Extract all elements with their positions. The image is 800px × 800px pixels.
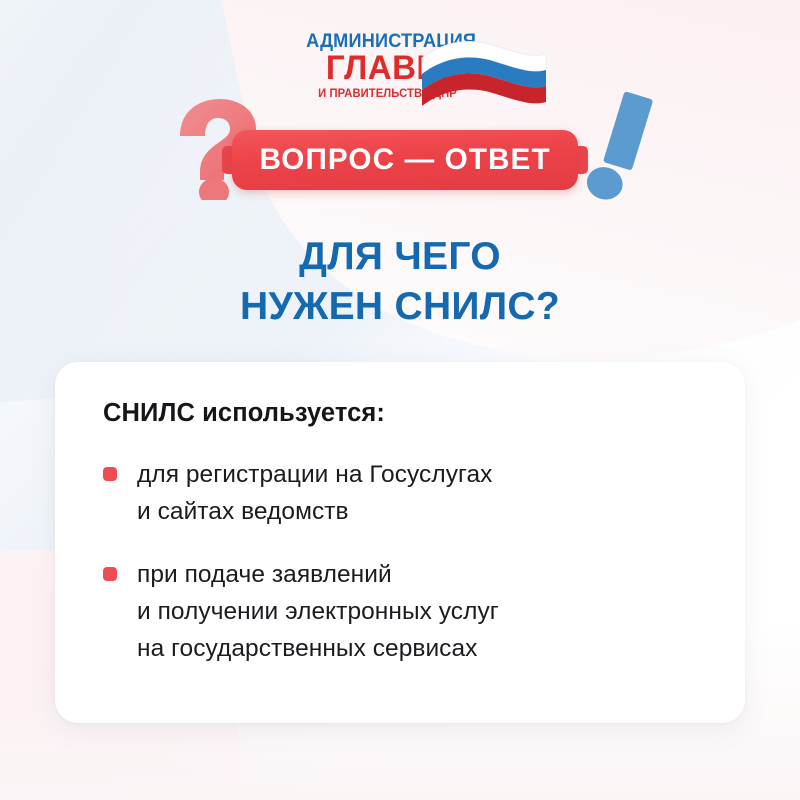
bullet-list: для регистрации на Госуслугах и сайтах в… xyxy=(103,456,701,667)
bullet-square-icon xyxy=(103,567,117,581)
list-item-line: на государственных сервисах xyxy=(137,630,499,667)
list-item-text: при подаче заявлений и получении электро… xyxy=(137,556,499,667)
exclamation-mark-icon xyxy=(586,92,666,209)
banner-label: ВОПРОС — ОТВЕТ xyxy=(259,143,550,177)
answer-card: СНИЛС используется: для регистрации на Г… xyxy=(55,362,745,723)
question-answer-banner: ВОПРОС — ОТВЕТ xyxy=(232,130,578,190)
administration-logo: АДМИНИСТРАЦИЯ ГЛАВЫ И ПРАВИТЕЛЬСТВА ДНР xyxy=(300,30,550,116)
list-item-line: при подаче заявлений xyxy=(137,556,499,593)
page-title-line-2: НУЖЕН СНИЛС? xyxy=(0,282,800,332)
list-item-line: и получении электронных услуг xyxy=(137,593,499,630)
list-item: при подаче заявлений и получении электро… xyxy=(103,556,701,667)
list-item-line: для регистрации на Госуслугах xyxy=(137,456,492,493)
list-item: для регистрации на Госуслугах и сайтах в… xyxy=(103,456,701,530)
list-item-text: для регистрации на Госуслугах и сайтах в… xyxy=(137,456,492,530)
card-heading: СНИЛС используется: xyxy=(103,398,701,428)
bullet-square-icon xyxy=(103,467,117,481)
page-title-line-1: ДЛЯ ЧЕГО xyxy=(0,232,800,282)
list-item-line: и сайтах ведомств xyxy=(137,493,492,530)
page-title: ДЛЯ ЧЕГО НУЖЕН СНИЛС? xyxy=(0,232,800,332)
russian-tricolor-flag-icon xyxy=(420,32,548,121)
